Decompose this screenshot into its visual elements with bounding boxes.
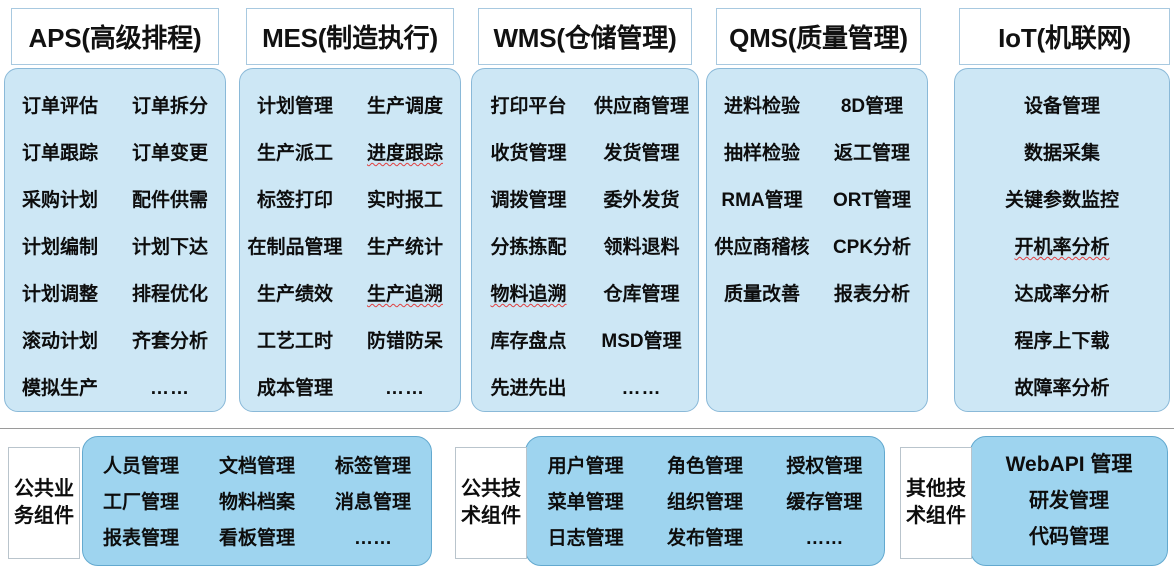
component-item[interactable]: 用户管理 <box>526 449 645 485</box>
module-title: IoT(机联网) <box>998 18 1131 55</box>
module-body-aps: 订单评估 订单拆分 订单跟踪 订单变更 采购计划 配件供需 计划编制 计划下达 … <box>4 68 226 412</box>
module-item-grid: 订单评估 订单拆分 订单跟踪 订单变更 采购计划 配件供需 计划编制 计划下达 … <box>5 83 225 412</box>
module-title: MES(制造执行) <box>262 18 438 55</box>
module-item-more[interactable]: …… <box>115 365 225 412</box>
component-item-more[interactable]: …… <box>315 521 431 557</box>
module-item[interactable]: 实时报工 <box>350 177 460 224</box>
module-item-grid: 打印平台 供应商管理 收货管理 发货管理 调拨管理 委外发货 分拣拣配 领料退料… <box>472 83 698 412</box>
module-item[interactable]: 计划下达 <box>115 224 225 271</box>
component-group-label-text: 公共技术组件 <box>456 476 526 530</box>
component-row: 公共业务组件 人员管理 文档管理 标签管理 工厂管理 物料档案 消息管理 报表管… <box>0 430 1174 575</box>
module-item[interactable]: 模拟生产 <box>5 365 115 412</box>
module-item[interactable]: CPK分析 <box>817 224 927 271</box>
component-group-label-text: 公共业务组件 <box>9 476 79 530</box>
module-body-wms: 打印平台 供应商管理 收货管理 发货管理 调拨管理 委外发货 分拣拣配 领料退料… <box>471 68 699 412</box>
component-item-grid: WebAPI 管理 研发管理 代码管理 <box>971 447 1167 555</box>
component-item[interactable]: 缓存管理 <box>765 485 884 521</box>
component-item[interactable]: 物料档案 <box>199 485 315 521</box>
module-item[interactable]: 调拨管理 <box>472 177 585 224</box>
module-item[interactable]: 打印平台 <box>472 83 585 130</box>
component-item[interactable]: 标签管理 <box>315 449 431 485</box>
component-item[interactable]: 研发管理 <box>971 483 1167 519</box>
module-item[interactable]: 采购计划 <box>5 177 115 224</box>
module-item[interactable]: 生产追溯 <box>350 271 460 318</box>
module-item-grid: 计划管理 生产调度 生产派工 进度跟踪 标签打印 实时报工 在制品管理 生产统计… <box>240 83 460 412</box>
module-item[interactable]: 工艺工时 <box>240 318 350 365</box>
component-group-label-text: 其他技术组件 <box>901 476 971 530</box>
module-item[interactable]: 库存盘点 <box>472 318 585 365</box>
module-header-aps: APS(高级排程) <box>11 8 219 65</box>
component-panel: WebAPI 管理 研发管理 代码管理 <box>970 436 1168 566</box>
component-item[interactable]: 代码管理 <box>971 519 1167 555</box>
module-item[interactable]: ORT管理 <box>817 177 927 224</box>
module-item[interactable]: 订单评估 <box>5 83 115 130</box>
component-item[interactable]: 消息管理 <box>315 485 431 521</box>
module-item[interactable]: 仓库管理 <box>585 271 698 318</box>
component-group-label: 其他技术组件 <box>900 447 972 559</box>
module-item[interactable]: 发货管理 <box>585 130 698 177</box>
module-item[interactable]: 分拣拣配 <box>472 224 585 271</box>
module-item[interactable]: 订单变更 <box>115 130 225 177</box>
module-item[interactable]: 返工管理 <box>817 130 927 177</box>
module-item[interactable]: 报表分析 <box>817 271 927 318</box>
module-item[interactable]: 订单跟踪 <box>5 130 115 177</box>
module-row: APS(高级排程) 订单评估 订单拆分 订单跟踪 订单变更 采购计划 配件供需 … <box>0 0 1174 420</box>
module-column-mes[interactable]: MES(制造执行) 计划管理 生产调度 生产派工 进度跟踪 标签打印 实时报工 … <box>239 0 461 415</box>
module-item-more[interactable]: …… <box>585 365 698 412</box>
component-item[interactable]: 人员管理 <box>83 449 199 485</box>
module-item[interactable]: 防错防呆 <box>350 318 460 365</box>
component-item-grid: 用户管理 角色管理 授权管理 菜单管理 组织管理 缓存管理 日志管理 发布管理 … <box>526 449 884 557</box>
module-item[interactable]: 标签打印 <box>240 177 350 224</box>
module-item[interactable]: 质量改善 <box>707 271 817 318</box>
module-item[interactable]: MSD管理 <box>585 318 698 365</box>
component-item-grid: 人员管理 文档管理 标签管理 工厂管理 物料档案 消息管理 报表管理 看板管理 … <box>83 449 431 557</box>
module-item[interactable]: 程序上下载 <box>955 318 1169 365</box>
module-item-grid: 进料检验 8D管理 抽样检验 返工管理 RMA管理 ORT管理 供应商稽核 CP… <box>707 83 927 318</box>
module-item[interactable]: 物料追溯 <box>472 271 585 318</box>
module-item[interactable]: RMA管理 <box>707 177 817 224</box>
module-title: APS(高级排程) <box>29 18 202 55</box>
module-item[interactable]: 故障率分析 <box>955 365 1169 412</box>
module-title: QMS(质量管理) <box>729 18 908 55</box>
module-item[interactable]: 排程优化 <box>115 271 225 318</box>
component-item[interactable]: 工厂管理 <box>83 485 199 521</box>
component-item[interactable]: 日志管理 <box>526 521 645 557</box>
component-group-label: 公共业务组件 <box>8 447 80 559</box>
component-item[interactable]: 发布管理 <box>645 521 764 557</box>
module-header-qms: QMS(质量管理) <box>716 8 921 65</box>
component-item[interactable]: 组织管理 <box>645 485 764 521</box>
component-item[interactable]: 报表管理 <box>83 521 199 557</box>
component-group-public-business[interactable]: 公共业务组件 人员管理 文档管理 标签管理 工厂管理 物料档案 消息管理 报表管… <box>0 430 440 575</box>
module-body-iot: 设备管理 数据采集 关键参数监控 开机率分析 达成率分析 程序上下载 故障率分析 <box>954 68 1170 412</box>
component-item[interactable]: WebAPI 管理 <box>971 447 1167 483</box>
component-item[interactable]: 授权管理 <box>765 449 884 485</box>
module-item-more[interactable]: …… <box>350 365 460 412</box>
component-item[interactable]: 文档管理 <box>199 449 315 485</box>
module-item[interactable]: 生产统计 <box>350 224 460 271</box>
module-item[interactable]: 齐套分析 <box>115 318 225 365</box>
module-item[interactable]: 进度跟踪 <box>350 130 460 177</box>
module-item[interactable]: 计划调整 <box>5 271 115 318</box>
module-item[interactable]: 先进先出 <box>472 365 585 412</box>
module-title: WMS(仓储管理) <box>493 18 676 55</box>
component-group-label: 公共技术组件 <box>455 447 527 559</box>
module-item[interactable]: 生产派工 <box>240 130 350 177</box>
module-header-iot: IoT(机联网) <box>959 8 1170 65</box>
component-panel: 用户管理 角色管理 授权管理 菜单管理 组织管理 缓存管理 日志管理 发布管理 … <box>525 436 885 566</box>
component-group-other-technical[interactable]: 其他技术组件 WebAPI 管理 研发管理 代码管理 <box>894 430 1174 575</box>
module-item[interactable]: 设备管理 <box>955 83 1169 130</box>
module-item[interactable]: 数据采集 <box>955 130 1169 177</box>
module-item[interactable]: 生产调度 <box>350 83 460 130</box>
module-column-qms[interactable]: QMS(质量管理) 进料检验 8D管理 抽样检验 返工管理 RMA管理 ORT管… <box>706 0 928 415</box>
section-divider <box>0 428 1174 429</box>
module-item[interactable]: 委外发货 <box>585 177 698 224</box>
module-item[interactable]: 开机率分析 <box>955 224 1169 271</box>
component-item[interactable]: 菜单管理 <box>526 485 645 521</box>
module-item[interactable]: 关键参数监控 <box>955 177 1169 224</box>
module-column-iot[interactable]: IoT(机联网) 设备管理 数据采集 关键参数监控 开机率分析 达成率分析 程序… <box>941 0 1170 415</box>
module-item[interactable]: 收货管理 <box>472 130 585 177</box>
module-item[interactable]: 供应商管理 <box>585 83 698 130</box>
module-item[interactable]: 计划编制 <box>5 224 115 271</box>
module-item[interactable]: 抽样检验 <box>707 130 817 177</box>
component-panel: 人员管理 文档管理 标签管理 工厂管理 物料档案 消息管理 报表管理 看板管理 … <box>82 436 432 566</box>
component-item[interactable]: 角色管理 <box>645 449 764 485</box>
module-item[interactable]: 生产绩效 <box>240 271 350 318</box>
module-item[interactable]: 在制品管理 <box>240 224 350 271</box>
component-item-more[interactable]: …… <box>765 521 884 557</box>
module-item[interactable]: 领料退料 <box>585 224 698 271</box>
module-column-aps[interactable]: APS(高级排程) 订单评估 订单拆分 订单跟踪 订单变更 采购计划 配件供需 … <box>4 0 226 415</box>
module-item[interactable]: 订单拆分 <box>115 83 225 130</box>
module-item[interactable]: 进料检验 <box>707 83 817 130</box>
module-item[interactable]: 成本管理 <box>240 365 350 412</box>
module-item[interactable]: 滚动计划 <box>5 318 115 365</box>
module-column-wms[interactable]: WMS(仓储管理) 打印平台 供应商管理 收货管理 发货管理 调拨管理 委外发货… <box>471 0 699 415</box>
module-item-grid: 设备管理 数据采集 关键参数监控 开机率分析 达成率分析 程序上下载 故障率分析 <box>955 83 1169 412</box>
module-body-qms: 进料检验 8D管理 抽样检验 返工管理 RMA管理 ORT管理 供应商稽核 CP… <box>706 68 928 412</box>
module-item[interactable]: 8D管理 <box>817 83 927 130</box>
module-item[interactable]: 配件供需 <box>115 177 225 224</box>
module-header-wms: WMS(仓储管理) <box>478 8 692 65</box>
module-item[interactable]: 供应商稽核 <box>707 224 817 271</box>
component-item[interactable]: 看板管理 <box>199 521 315 557</box>
module-item[interactable]: 计划管理 <box>240 83 350 130</box>
module-body-mes: 计划管理 生产调度 生产派工 进度跟踪 标签打印 实时报工 在制品管理 生产统计… <box>239 68 461 412</box>
component-group-public-technical[interactable]: 公共技术组件 用户管理 角色管理 授权管理 菜单管理 组织管理 缓存管理 日志管… <box>447 430 894 575</box>
module-item[interactable]: 达成率分析 <box>955 271 1169 318</box>
module-header-mes: MES(制造执行) <box>246 8 454 65</box>
